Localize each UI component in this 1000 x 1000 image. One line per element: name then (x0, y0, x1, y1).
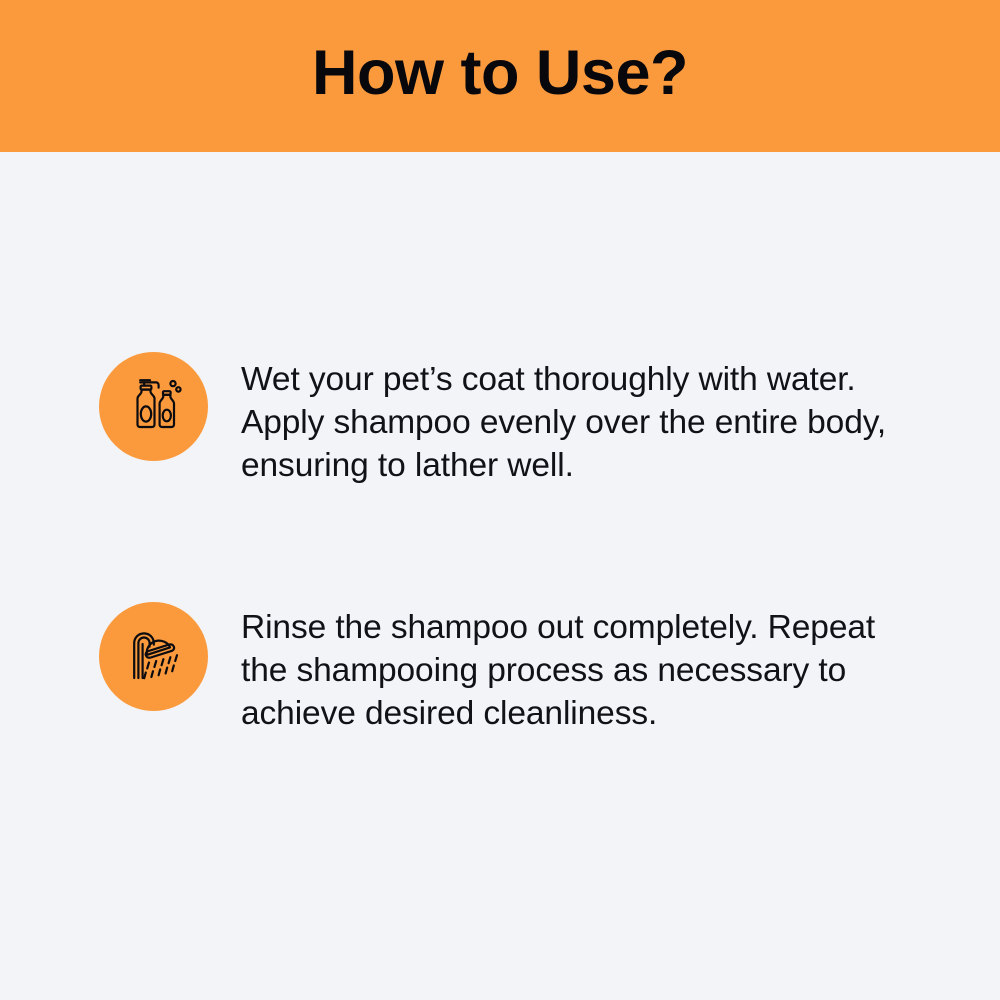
step-item-1: Wet your pet’s coat thoroughly with wate… (99, 352, 903, 487)
step-item-2: Rinse the shampoo out completely. Repeat… (99, 602, 903, 735)
step-2-icon-badge (99, 602, 208, 711)
header-banner: How to Use? (0, 0, 1000, 152)
step-1-icon-badge (99, 352, 208, 461)
page-title: How to Use? (312, 42, 688, 111)
shower-head-icon (123, 626, 185, 688)
step-2-description: Rinse the shampoo out completely. Repeat… (241, 602, 903, 735)
step-1-description: Wet your pet’s coat thoroughly with wate… (241, 352, 903, 487)
shampoo-bottles-icon (123, 376, 185, 438)
